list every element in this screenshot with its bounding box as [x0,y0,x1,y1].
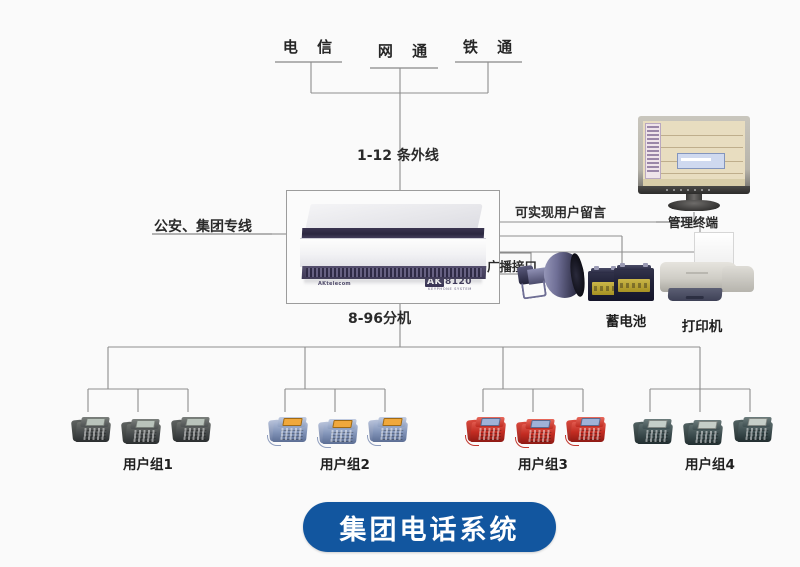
carrier-label-tietong: 铁 通 [455,36,527,57]
phone-display [697,421,717,429]
battery-caption-text: 蓄电池 [606,314,647,330]
phone-display [185,418,205,426]
monitor-screen-row [661,147,743,148]
battery-terminal [620,263,625,267]
dedicated-line-label: 公安、集团专线 [154,216,252,236]
voicemail-callout-text: 可实现用户留言 [515,206,606,221]
extension-count-label-text: 8-96分机 [348,311,411,327]
extension-count-label: 8-96分机 [348,308,411,328]
user-group-2-caption: 用户组2 [285,453,405,473]
telephone-set[interactable] [72,414,110,444]
phone-display [282,418,302,426]
management-terminal-monitor[interactable] [638,116,750,212]
title-banner-text: 集团电话系统 [340,508,520,547]
battery-label [618,279,650,292]
pbx-front-face: AKtelecom AK8120 KEYPHONE SYSTEM [300,238,486,267]
user-group-4-caption-text: 用户组4 [685,457,735,473]
telephone-set[interactable] [467,414,505,444]
phone-keypad [133,430,156,442]
phone-display [135,420,155,428]
pbx-vent-grille [302,266,487,279]
dedicated-line-label-text: 公安、集团专线 [154,219,252,235]
monitor-base-bar [638,186,750,194]
pbx-shadow [304,279,482,285]
phone-keypad [380,428,403,440]
pbx-subtitle-text: KEYPHONE SYSTEM [425,287,472,291]
phone-display [480,418,500,426]
user-group-4-caption: 用户组4 [650,453,770,473]
management-terminal-label: 管理终端 [668,212,718,231]
diagram-canvas: 电 信 网 通 铁 通 1-12 条外线 公安、集团专线 AKtelecom A… [0,0,800,567]
phone-keypad [280,428,303,440]
printer-caption: 打印机 [664,315,740,335]
telephone-set[interactable] [517,416,555,446]
user-group-1-caption-text: 用户组1 [123,457,173,473]
printer-caption-text: 打印机 [682,319,723,335]
carrier-label-netcom: 网 通 [370,40,442,61]
monitor-bezel [638,116,750,192]
phone-keypad [83,428,106,440]
carrier-label-telecom: 电 信 [275,36,347,57]
monitor-screen-dialog [677,153,725,169]
carrier-label-telecom-text: 电 信 [283,38,339,56]
printer-right-cover [722,266,754,292]
battery-bank[interactable] [588,264,664,304]
battery-unit [614,268,654,301]
pbx-top-panel [305,204,483,230]
broadcast-horn-speaker-icon [512,252,584,298]
battery-terminal [643,263,648,267]
phone-display [85,418,105,426]
telephone-set[interactable] [567,414,605,444]
phone-display [382,418,402,426]
printer-output-tray [668,288,723,301]
telephone-set[interactable] [734,414,772,444]
phone-display [747,418,767,426]
telephone-set[interactable] [684,417,722,447]
trunk-line-label-text: 1-12 条外线 [357,148,439,164]
carrier-label-netcom-text: 网 通 [378,42,434,60]
phone-keypad [478,428,501,440]
monitor-screen-sidebar [645,123,661,179]
phone-keypad [578,428,601,440]
user-group-2-caption-text: 用户组2 [320,457,370,473]
telephone-set[interactable] [634,416,672,446]
horn-bracket [521,280,547,299]
telephone-set[interactable] [269,414,307,444]
battery-terminal [594,266,599,270]
telephone-set[interactable] [172,414,210,444]
monitor-screen-row [661,173,743,174]
voicemail-callout: 可实现用户留言 [515,202,606,221]
pbx-unit[interactable]: AKtelecom AK8120 KEYPHONE SYSTEM [286,190,498,302]
phone-keypad [528,430,551,442]
user-group-3-caption-text: 用户组3 [518,457,568,473]
phone-keypad [695,431,718,443]
telephone-set[interactable] [369,414,407,444]
monitor-foot [668,200,720,211]
phone-display [647,420,667,428]
phone-display [580,418,600,426]
phone-display [530,420,550,428]
printer-device[interactable] [660,248,756,310]
telephone-set[interactable] [122,416,160,446]
phone-display [332,420,352,428]
title-banner: 集团电话系统 [303,502,556,552]
pbx-device-image: AKtelecom AK8120 KEYPHONE SYSTEM [300,204,486,286]
monitor-screen [643,121,745,187]
user-group-3-caption: 用户组3 [483,453,603,473]
user-group-1-caption: 用户组1 [88,453,208,473]
phone-keypad [183,428,206,440]
carrier-label-tietong-text: 铁 通 [463,38,519,56]
phone-keypad [745,428,768,440]
trunk-line-label: 1-12 条外线 [357,145,439,165]
phone-keypad [330,430,353,442]
battery-caption: 蓄电池 [588,310,664,330]
phone-keypad [645,430,668,442]
telephone-set[interactable] [319,416,357,446]
monitor-screen-row [661,135,743,136]
management-terminal-label-text: 管理终端 [668,215,718,230]
